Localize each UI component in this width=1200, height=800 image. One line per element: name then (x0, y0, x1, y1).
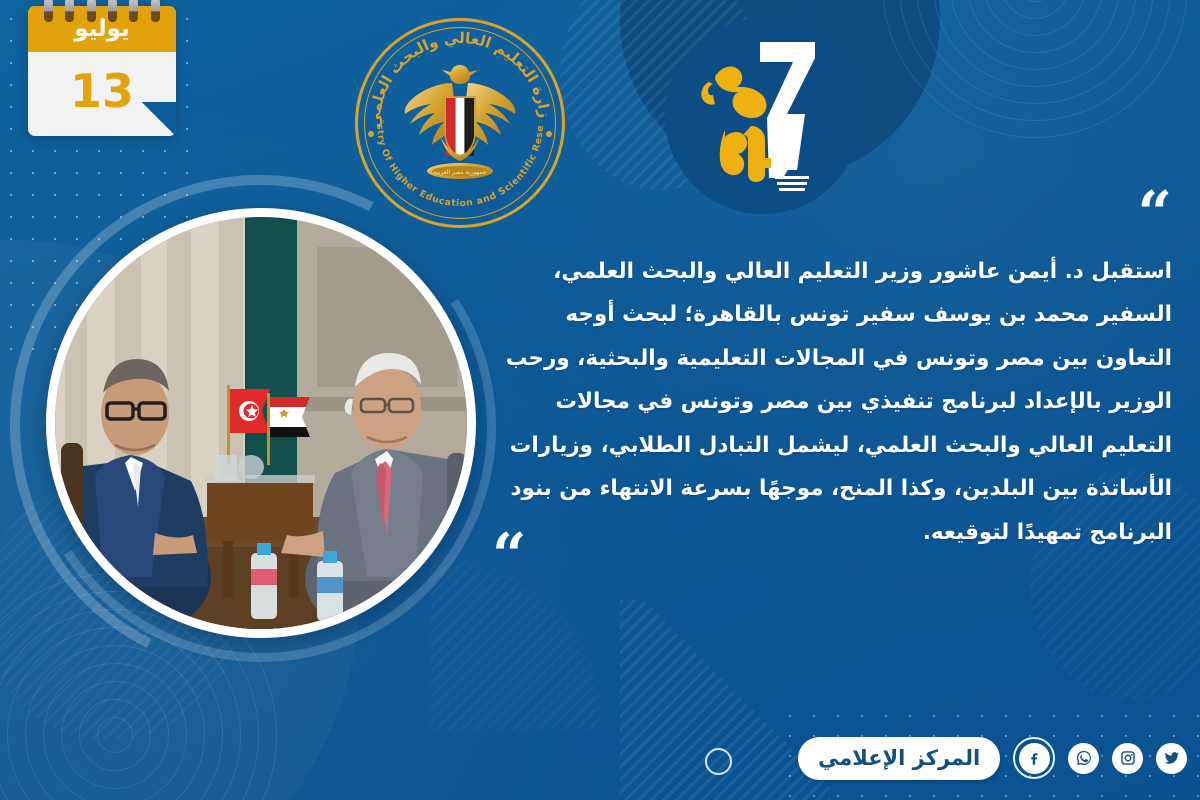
facebook-icon-ring[interactable] (1013, 737, 1055, 779)
instagram-icon[interactable] (1112, 743, 1143, 774)
quote-panel: “ استقبل د. أيمن عاشور وزير التعليم العا… (482, 196, 1172, 574)
calendar-body: يوليو 13 (28, 6, 176, 136)
poster-canvas: يوليو 13 وزارة التعليم العالي والبحث الع… (0, 0, 1200, 800)
meeting-photo-frame (46, 208, 476, 638)
quote-body-text: استقبل د. أيمن عاشور وزير التعليم العالي… (482, 250, 1172, 554)
date-calendar: يوليو 13 (28, 6, 176, 136)
calendar-page-fold-icon (142, 102, 176, 136)
calendar-spiral-rings (38, 0, 166, 20)
footer-bar: المركز الإعلامي (798, 733, 1188, 783)
concentric-rings-bottom-left (110, 730, 120, 740)
svg-text:جمهورية مصر العربية: جمهورية مصر العربية (434, 169, 487, 176)
hasad-ayam-program-logo (665, 18, 861, 214)
media-center-button[interactable]: المركز الإعلامي (798, 737, 1000, 780)
facebook-icon[interactable] (1019, 743, 1050, 774)
whatsapp-icon[interactable] (1068, 743, 1099, 774)
eagle-of-saladin-icon: جمهورية مصر العربية (402, 61, 518, 185)
meeting-photo (55, 217, 467, 629)
twitter-icon[interactable] (1156, 743, 1187, 774)
decorative-circle-outline (705, 748, 732, 775)
quote-open-mark: “ (482, 196, 1172, 250)
